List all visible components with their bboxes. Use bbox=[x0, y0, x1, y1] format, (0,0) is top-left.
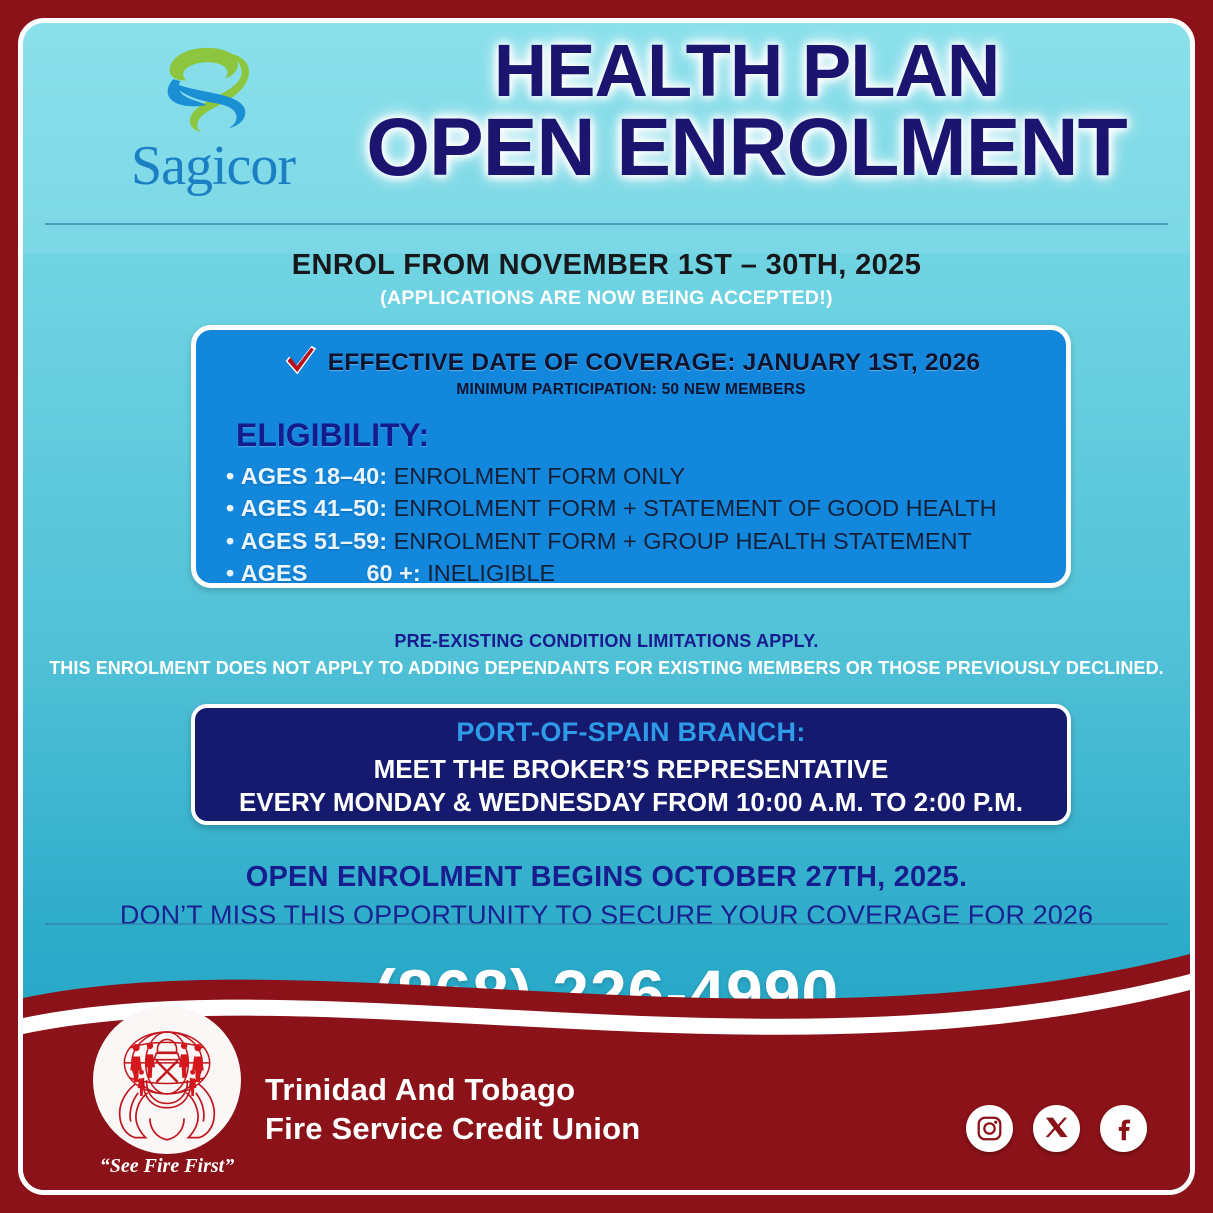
eligibility-age-label-b: 60 +: bbox=[366, 560, 420, 586]
eligibility-requirement: ENROLMENT FORM + STATEMENT OF GOOD HEALT… bbox=[394, 495, 997, 521]
seal-circle bbox=[93, 1006, 241, 1154]
facebook-icon bbox=[1110, 1115, 1137, 1142]
branch-title: PORT-OF-SPAIN BRANCH: bbox=[195, 717, 1067, 748]
title-line-2: OPEN ENROLMENT bbox=[323, 108, 1170, 188]
enrolment-dates: ENROL FROM NOVEMBER 1ST – 30TH, 2025 (AP… bbox=[23, 249, 1190, 310]
eligibility-heading: ELIGIBILITY: bbox=[236, 417, 1048, 454]
list-item: • AGES 41–50: ENROLMENT FORM + STATEMENT… bbox=[226, 492, 1048, 524]
credit-union-seal: “See Fire First” bbox=[86, 1006, 248, 1178]
sagicor-swoosh-icon bbox=[153, 41, 273, 136]
disclaimer-dependants: THIS ENROLMENT DOES NOT APPLY TO ADDING … bbox=[23, 658, 1190, 679]
fire-service-emblem-icon bbox=[103, 1016, 231, 1144]
eligibility-requirement: INELIGIBLE bbox=[427, 560, 555, 586]
eligibility-age-label: AGES 41–50: bbox=[241, 495, 387, 521]
list-item: • AGES 51–59: ENROLMENT FORM + GROUP HEA… bbox=[226, 525, 1048, 557]
eligibility-requirement: ENROLMENT FORM ONLY bbox=[394, 463, 686, 489]
seal-motto: “See Fire First” bbox=[86, 1155, 248, 1178]
disclaimer-pre-existing: PRE-EXISTING CONDITION LIMITATIONS APPLY… bbox=[23, 631, 1190, 652]
instagram-button[interactable] bbox=[966, 1105, 1013, 1152]
branch-panel: PORT-OF-SPAIN BRANCH: MEET THE BROKER’S … bbox=[191, 704, 1071, 825]
x-twitter-button[interactable] bbox=[1033, 1105, 1080, 1152]
eligibility-list: • AGES 18–40: ENROLMENT FORM ONLY • AGES… bbox=[226, 460, 1048, 590]
branch-broker-line: MEET THE BROKER’S REPRESENTATIVE bbox=[195, 754, 1067, 785]
divider-top bbox=[45, 223, 1168, 225]
sagicor-wordmark: Sagicor bbox=[98, 138, 328, 194]
instagram-icon bbox=[976, 1115, 1003, 1142]
sagicor-logo: Sagicor bbox=[98, 41, 328, 211]
footer-content: “See Fire First” Trinidad And Tobago Fir… bbox=[23, 990, 1190, 1190]
disclaimer-block: PRE-EXISTING CONDITION LIMITATIONS APPLY… bbox=[23, 631, 1190, 679]
eligibility-panel: EFFECTIVE DATE OF COVERAGE: JANUARY 1ST,… bbox=[191, 325, 1071, 588]
poster-title: HEALTH PLAN OPEN ENROLMENT bbox=[323, 35, 1170, 188]
enrolment-note: (APPLICATIONS ARE NOW BEING ACCEPTED!) bbox=[23, 287, 1190, 310]
credit-union-name: Trinidad And Tobago Fire Service Credit … bbox=[265, 1071, 640, 1148]
eligibility-age-label: AGES 51–59: bbox=[241, 528, 387, 554]
effective-date-text: EFFECTIVE DATE OF COVERAGE: JANUARY 1ST,… bbox=[328, 349, 980, 377]
social-links bbox=[966, 1105, 1147, 1152]
eligibility-age-label: AGES 18–40: bbox=[241, 463, 387, 489]
begins-date: OPEN ENROLMENT BEGINS OCTOBER 27TH, 2025… bbox=[23, 861, 1190, 894]
credit-union-name-line1: Trinidad And Tobago bbox=[265, 1071, 640, 1109]
title-line-1: HEALTH PLAN bbox=[323, 35, 1170, 108]
checkmark-icon bbox=[282, 344, 318, 378]
minimum-participation-text: MINIMUM PARTICIPATION: 50 NEW MEMBERS bbox=[214, 381, 1048, 399]
poster-inner-frame: Sagicor HEALTH PLAN OPEN ENROLMENT ENROL… bbox=[18, 18, 1195, 1195]
credit-union-name-line2: Fire Service Credit Union bbox=[265, 1110, 640, 1148]
effective-date-row: EFFECTIVE DATE OF COVERAGE: JANUARY 1ST,… bbox=[214, 348, 1048, 378]
bullet-icon: • bbox=[226, 463, 234, 489]
divider-bottom bbox=[45, 923, 1168, 925]
list-item: • AGES 60 +: INELIGIBLE bbox=[226, 557, 1048, 589]
poster-header: Sagicor HEALTH PLAN OPEN ENROLMENT bbox=[23, 23, 1190, 223]
facebook-button[interactable] bbox=[1100, 1105, 1147, 1152]
begins-subtext: DON’T MISS THIS OPPORTUNITY TO SECURE YO… bbox=[23, 900, 1190, 931]
list-item: • AGES 18–40: ENROLMENT FORM ONLY bbox=[226, 460, 1048, 492]
flyer-poster: Sagicor HEALTH PLAN OPEN ENROLMENT ENROL… bbox=[0, 0, 1213, 1213]
begins-block: OPEN ENROLMENT BEGINS OCTOBER 27TH, 2025… bbox=[23, 861, 1190, 931]
bullet-icon: • bbox=[226, 495, 234, 521]
eligibility-requirement: ENROLMENT FORM + GROUP HEALTH STATEMENT bbox=[394, 528, 972, 554]
enrolment-period: ENROL FROM NOVEMBER 1ST – 30TH, 2025 bbox=[23, 249, 1190, 282]
bullet-icon: • bbox=[226, 528, 234, 554]
branch-hours-line: EVERY MONDAY & WEDNESDAY FROM 10:00 A.M.… bbox=[195, 787, 1067, 818]
bullet-icon: • bbox=[226, 560, 234, 586]
eligibility-age-label-a: AGES bbox=[241, 560, 308, 586]
x-twitter-icon bbox=[1043, 1115, 1070, 1142]
